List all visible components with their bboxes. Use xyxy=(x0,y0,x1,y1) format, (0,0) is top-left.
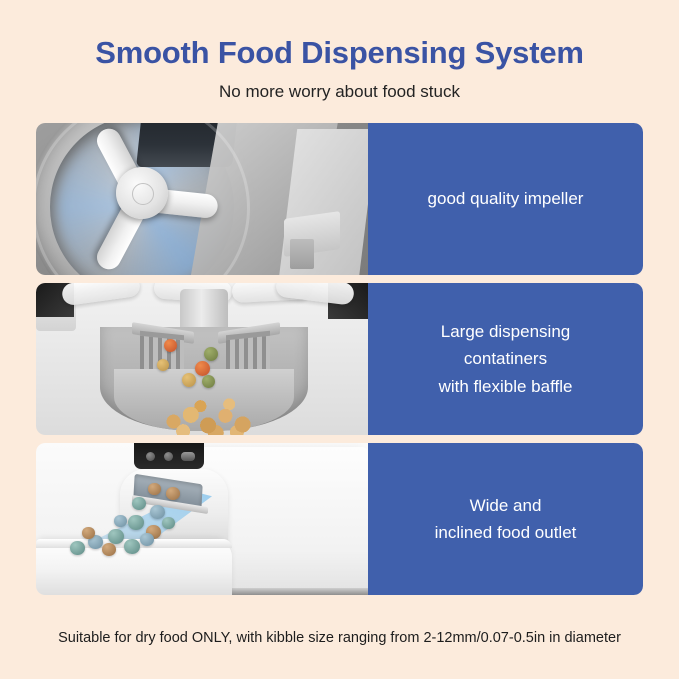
hopper-tab-small xyxy=(290,239,314,269)
feature-row-containers: Large dispensing contatiners with flexib… xyxy=(36,283,643,435)
kibble-piece xyxy=(195,361,210,376)
control-panel xyxy=(134,443,204,469)
impeller-photo xyxy=(36,123,368,275)
caption-line: Wide and xyxy=(470,492,542,520)
caption-line: Large dispensing xyxy=(441,318,570,346)
kibble-piece xyxy=(132,497,146,510)
kibble-piece xyxy=(204,347,218,361)
kibble-piece xyxy=(82,527,95,539)
caption-line: with flexible baffle xyxy=(439,373,573,401)
feature-caption-impeller: good quality impeller xyxy=(368,123,643,275)
caption-line: contatiners xyxy=(464,345,547,373)
kibble-piece xyxy=(182,373,196,387)
impeller-hub xyxy=(116,167,168,219)
page-title: Smooth Food Dispensing System xyxy=(0,36,679,70)
kibble-piece xyxy=(114,515,127,527)
header: Smooth Food Dispensing System No more wo… xyxy=(0,0,679,102)
impeller-blade-4 xyxy=(275,283,355,306)
caption-line: good quality impeller xyxy=(428,185,584,213)
kibble-piece xyxy=(124,539,140,554)
kibble-piece xyxy=(102,543,116,556)
feature-row-outlet: Wide and inclined food outlet xyxy=(36,443,643,595)
kibble-piece xyxy=(70,541,85,555)
kibble-pile xyxy=(162,387,258,435)
feature-caption-outlet: Wide and inclined food outlet xyxy=(368,443,643,595)
dispensing-carousel-photo xyxy=(36,283,368,435)
control-button-3 xyxy=(181,452,195,461)
page-subtitle: No more worry about food stuck xyxy=(0,82,679,102)
kibble-piece xyxy=(202,375,215,388)
kibble-piece xyxy=(164,339,177,352)
control-button-2 xyxy=(164,452,173,461)
kibble-piece xyxy=(157,359,169,371)
feature-rows: good quality impeller xyxy=(0,123,679,595)
infographic-page: Smooth Food Dispensing System No more wo… xyxy=(0,0,679,679)
feature-caption-containers: Large dispensing contatiners with flexib… xyxy=(368,283,643,435)
kibble-piece xyxy=(150,505,165,519)
kibble-piece xyxy=(108,529,124,544)
food-outlet-photo xyxy=(36,443,368,595)
control-button-1 xyxy=(146,452,155,461)
kibble-piece xyxy=(166,487,180,500)
feature-row-impeller: good quality impeller xyxy=(36,123,643,275)
kibble-piece xyxy=(148,483,161,495)
caption-line: inclined food outlet xyxy=(435,519,577,547)
footer-note: Suitable for dry food ONLY, with kibble … xyxy=(0,630,679,646)
kibble-piece xyxy=(162,517,175,529)
kibble-piece xyxy=(128,515,144,530)
kibble-piece xyxy=(140,533,154,546)
impeller-blade-1 xyxy=(61,283,141,306)
